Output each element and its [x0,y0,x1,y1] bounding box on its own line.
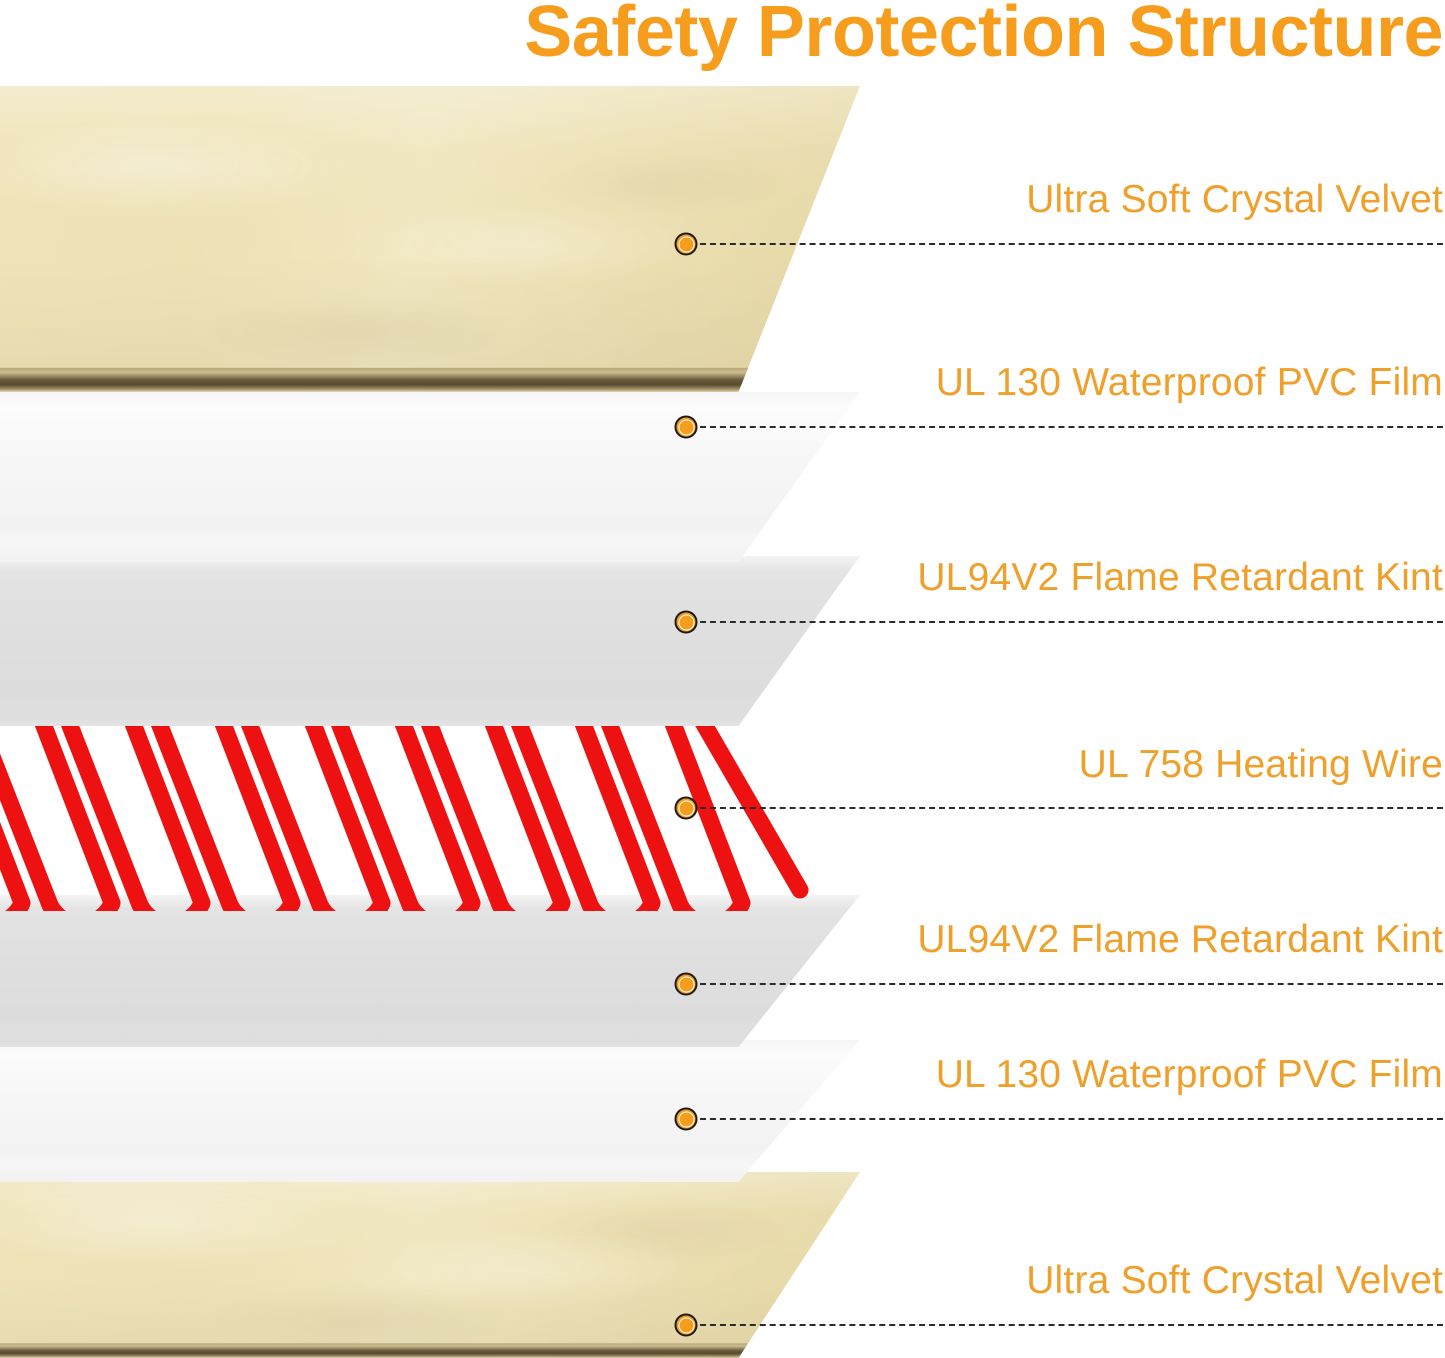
callout-leader-line [700,1324,1443,1326]
callout-marker-icon [675,233,698,256]
layer-slab-knit-bottom [0,895,860,1047]
layer-label-6: UL 130 Waterproof PVC Film [936,1053,1443,1097]
callout-marker-icon [675,416,698,439]
page-title: Safety Protection Structure [0,0,1443,68]
callout-leader-line [700,426,1443,428]
layer-slab-pvc-top [0,392,860,562]
layer-label-5: UL94V2 Flame Retardant Kint [917,918,1443,962]
callout-leader-line [700,621,1443,623]
callout-leader-line [700,1118,1443,1120]
layer-label-1: Ultra Soft Crystal Velvet [1026,178,1443,222]
callout-leader-line [700,807,1443,809]
layer-label-2: UL 130 Waterproof PVC Film [936,361,1443,405]
callout-marker-icon [675,973,698,996]
slab-edge [0,1172,860,1358]
callout-leader-line [700,983,1443,985]
layer-slab-pvc-bottom [0,1040,860,1182]
layer-label-3: UL94V2 Flame Retardant Kint [917,556,1443,600]
slab-texture [0,895,860,1047]
layer-label-7: Ultra Soft Crystal Velvet [1026,1259,1443,1303]
slab-texture [0,1040,860,1182]
slab-edge [0,86,860,392]
callout-leader-line [700,243,1443,245]
callout-marker-icon [675,1314,698,1337]
slab-texture [0,392,860,562]
callout-marker-icon [675,797,698,820]
layer-label-4: UL 758 Heating Wire [1079,743,1443,787]
layer-slab-velvet-top [0,86,860,392]
callout-marker-icon [675,1108,698,1131]
safety-protection-structure-infographic: Safety Protection Structure Ultra Soft C… [0,0,1445,1358]
layer-slab-knit-top [0,556,860,726]
slab-texture [0,556,860,726]
callout-marker-icon [675,611,698,634]
layer-slab-velvet-bottom [0,1172,860,1358]
